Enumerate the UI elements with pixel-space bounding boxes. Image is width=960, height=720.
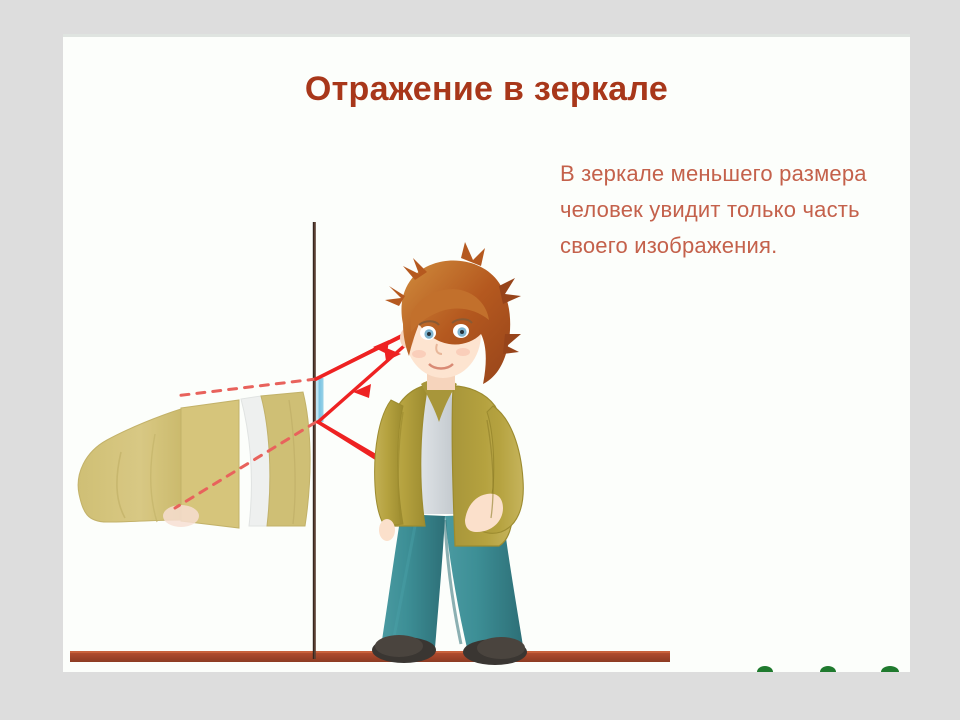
- floor-line: [70, 651, 670, 662]
- page-root: Отражение в зеркале В зеркале меньшего р…: [0, 0, 960, 720]
- mirror-reflection-diagram: [63, 34, 910, 672]
- mirror-strip: [316, 378, 324, 422]
- boy-figure: [372, 242, 527, 665]
- virtual-image-of-boy: [78, 392, 310, 528]
- green-shape-2: [820, 666, 836, 672]
- presentation-slide: Отражение в зеркале В зеркале меньшего р…: [63, 34, 910, 672]
- clipped-green-shapes: [63, 664, 910, 672]
- wall-vertical-line: [313, 222, 314, 659]
- green-shape-3: [881, 666, 899, 672]
- green-shape-1: [757, 666, 773, 672]
